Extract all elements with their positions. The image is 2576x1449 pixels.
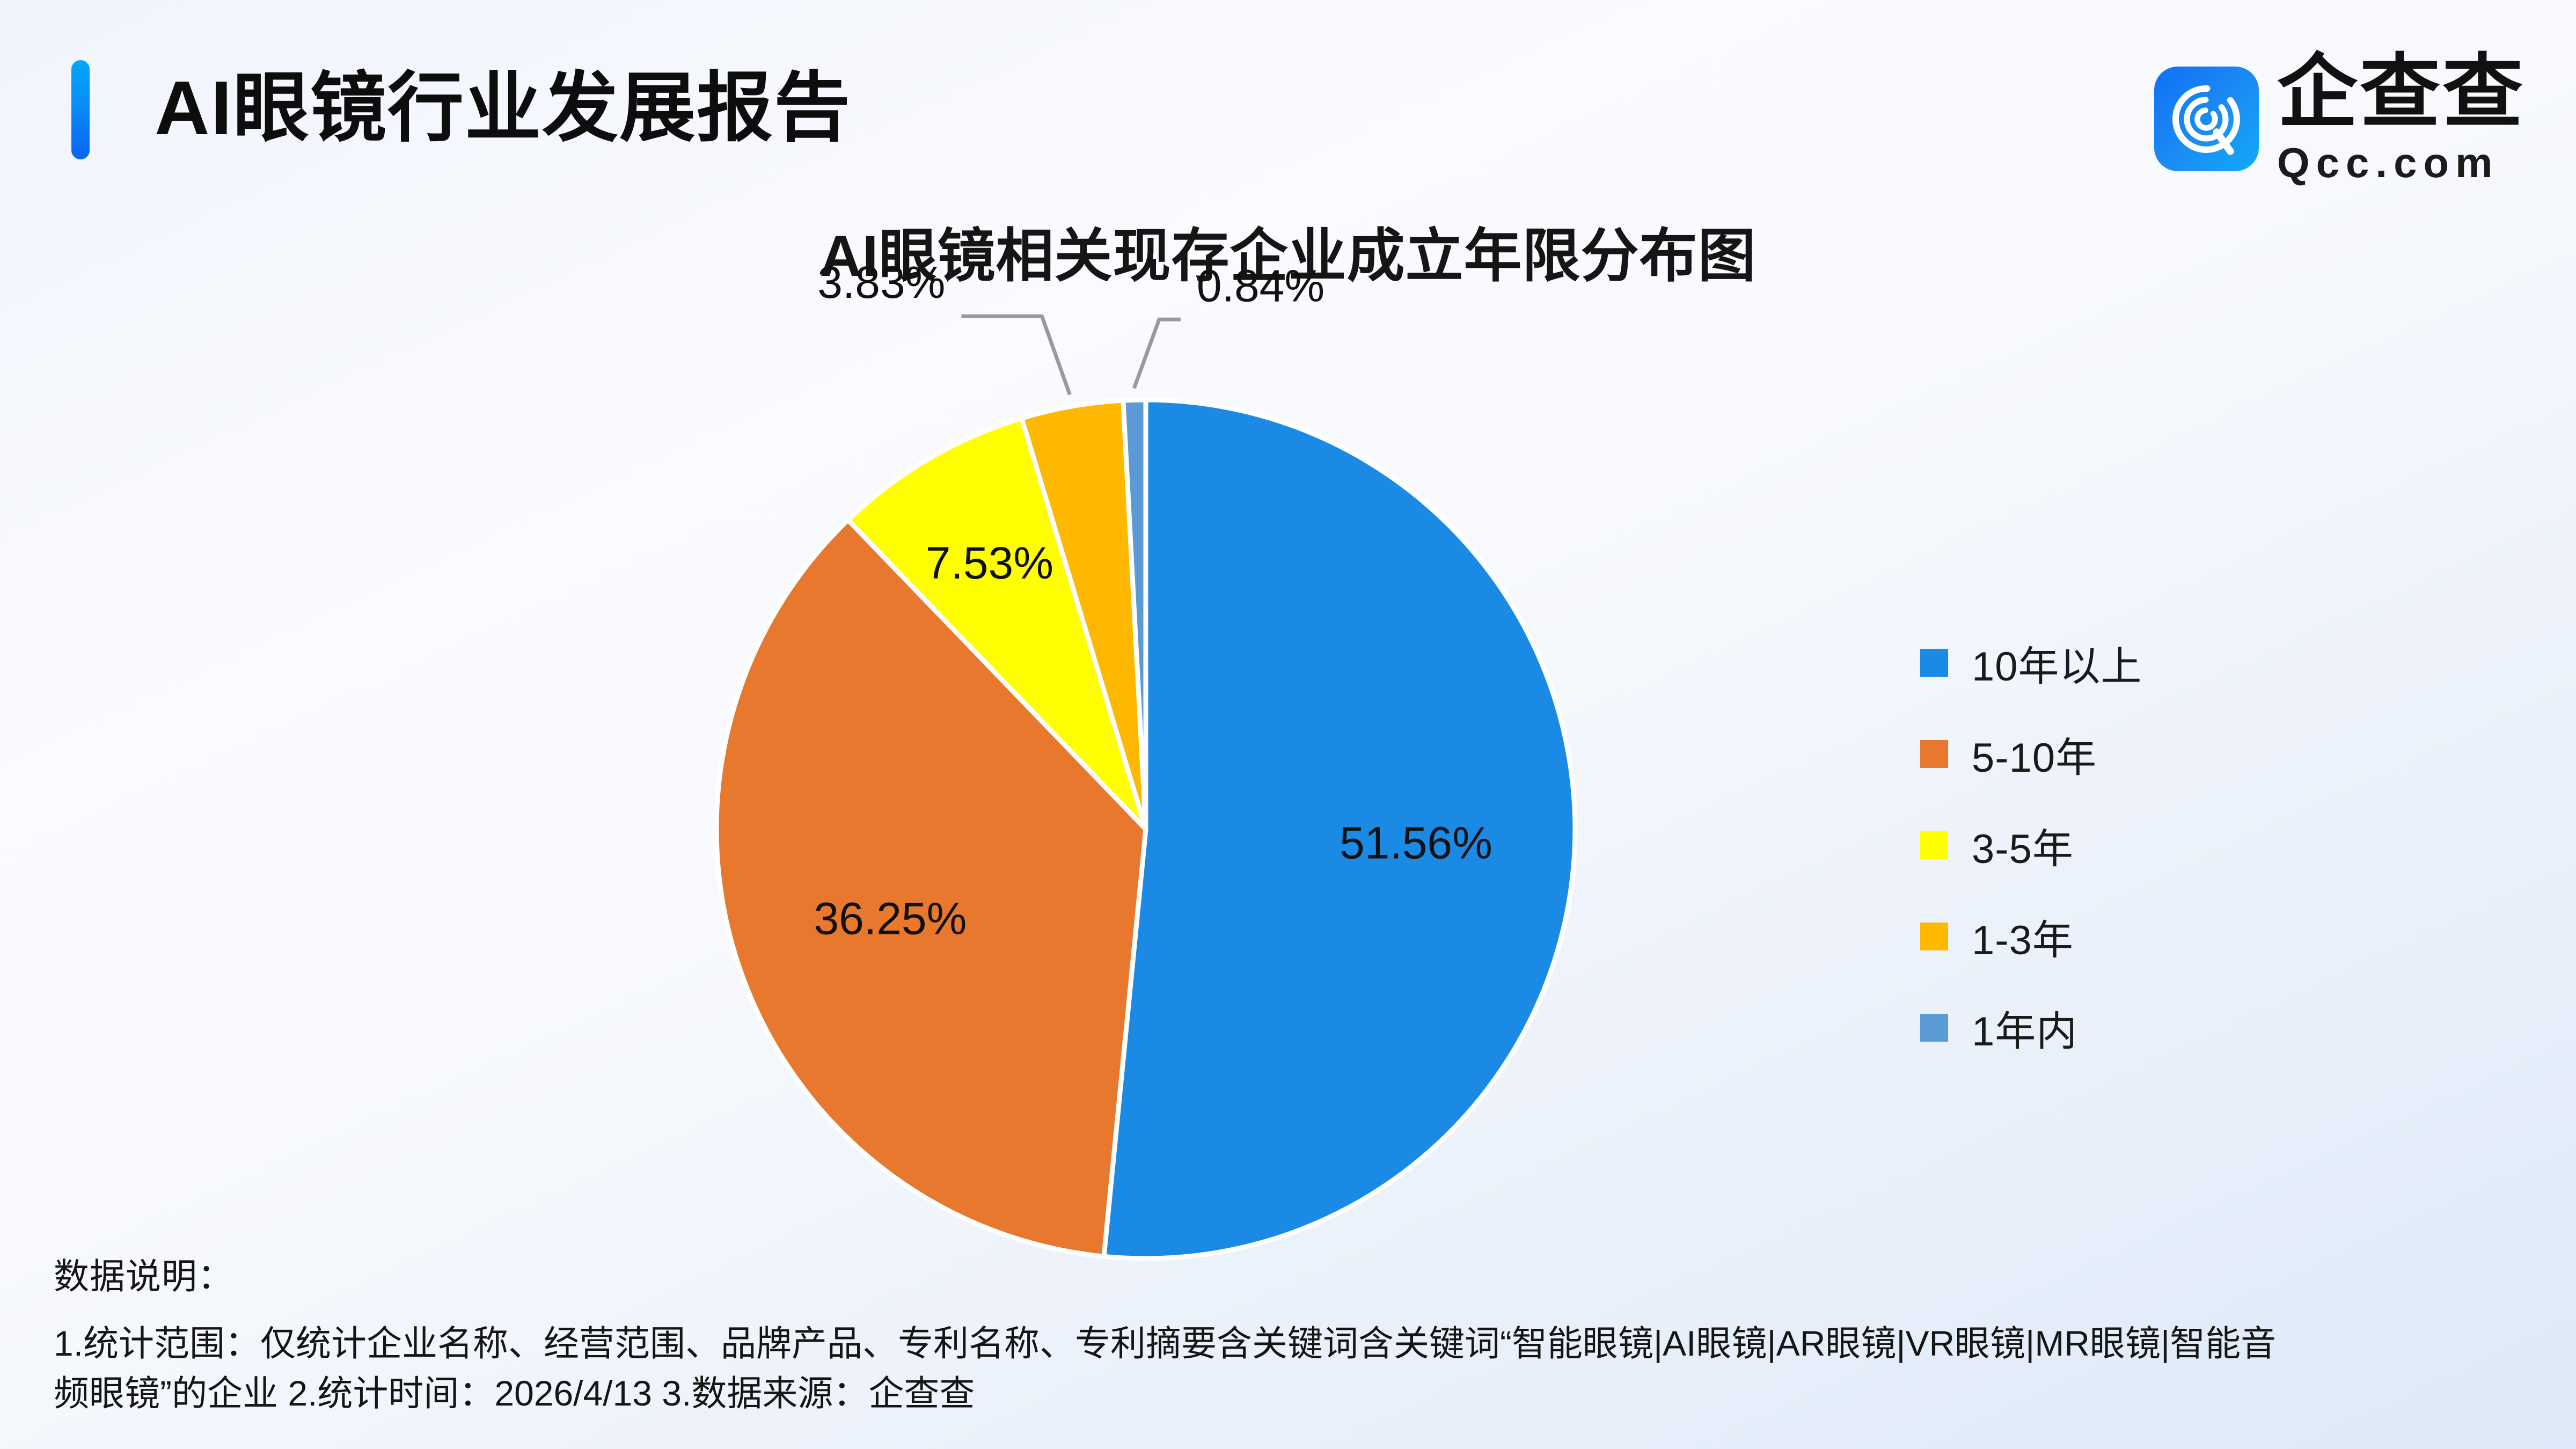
- brand-wordmark: 企查查 Qcc.com: [2277, 52, 2525, 186]
- legend-item-label: 1年内: [1972, 998, 2077, 1057]
- pie-slice-label: 7.53%: [926, 538, 1053, 588]
- legend-item[interactable]: 10年以上: [1920, 617, 2296, 708]
- legend-swatch-icon: [1920, 831, 1948, 859]
- legend-swatch-icon: [1920, 740, 1948, 768]
- pie-leader-line: [1134, 319, 1181, 388]
- qcc-spiral-q-glyph: [2166, 79, 2246, 159]
- legend-item[interactable]: 1-3年: [1920, 891, 2296, 982]
- chart-legend: 10年以上5-10年3-5年1-3年1年内: [1920, 617, 2296, 1073]
- legend-item-label: 1-3年: [1972, 907, 2074, 966]
- pie-slice-label-outside: 0.84%: [1197, 260, 1324, 311]
- page-title: AI眼镜行业发展报告: [155, 58, 851, 158]
- legend-item-label: 10年以上: [1972, 633, 2142, 692]
- legend-item[interactable]: 3-5年: [1920, 800, 2296, 891]
- pie-slice-label-outside: 3.83%: [817, 257, 945, 308]
- legend-item[interactable]: 5-10年: [1920, 708, 2296, 800]
- legend-swatch-icon: [1920, 649, 1948, 677]
- legend-swatch-icon: [1920, 923, 1948, 950]
- footnote-line: 1.统计范围：仅统计企业名称、经营范围、品牌产品、专利名称、专利摘要含关键词含关…: [54, 1319, 2533, 1369]
- brand-name-cn: 企查查: [2277, 52, 2525, 132]
- brand-logo[interactable]: 企查查 Qcc.com: [2154, 52, 2525, 186]
- footnote-line: 频眼镜”的企业 2.统计时间：2026/4/13 3.数据来源：企查查: [54, 1368, 2533, 1419]
- pie-leader-line-group: [961, 316, 1180, 394]
- report-header: AI眼镜行业发展报告 企查查 Qcc.com: [0, 0, 2576, 199]
- footnote-heading: 数据说明：: [54, 1248, 2533, 1299]
- legend-item-label: 3-5年: [1972, 816, 2074, 875]
- pie-chart-svg: 51.56%36.25%7.53%3.83%0.84%: [606, 370, 1583, 1283]
- pie-slice-label: 36.25%: [814, 893, 967, 943]
- footnotes: 数据说明： 1.统计范围：仅统计企业名称、经营范围、品牌产品、专利名称、专利摘要…: [54, 1248, 2533, 1419]
- legend-item[interactable]: 1年内: [1920, 982, 2296, 1073]
- qcc-spiral-q-icon: [2154, 67, 2259, 171]
- legend-swatch-icon: [1920, 1014, 1948, 1042]
- title-accent-bar: [71, 60, 90, 159]
- brand-name-en: Qcc.com: [2277, 140, 2525, 186]
- legend-item-label: 5-10年: [1972, 724, 2097, 784]
- pie-chart: 51.56%36.25%7.53%3.83%0.84%: [606, 370, 1583, 1283]
- pie-slice-label: 51.56%: [1340, 818, 1492, 868]
- pie-leader-line: [961, 316, 1070, 394]
